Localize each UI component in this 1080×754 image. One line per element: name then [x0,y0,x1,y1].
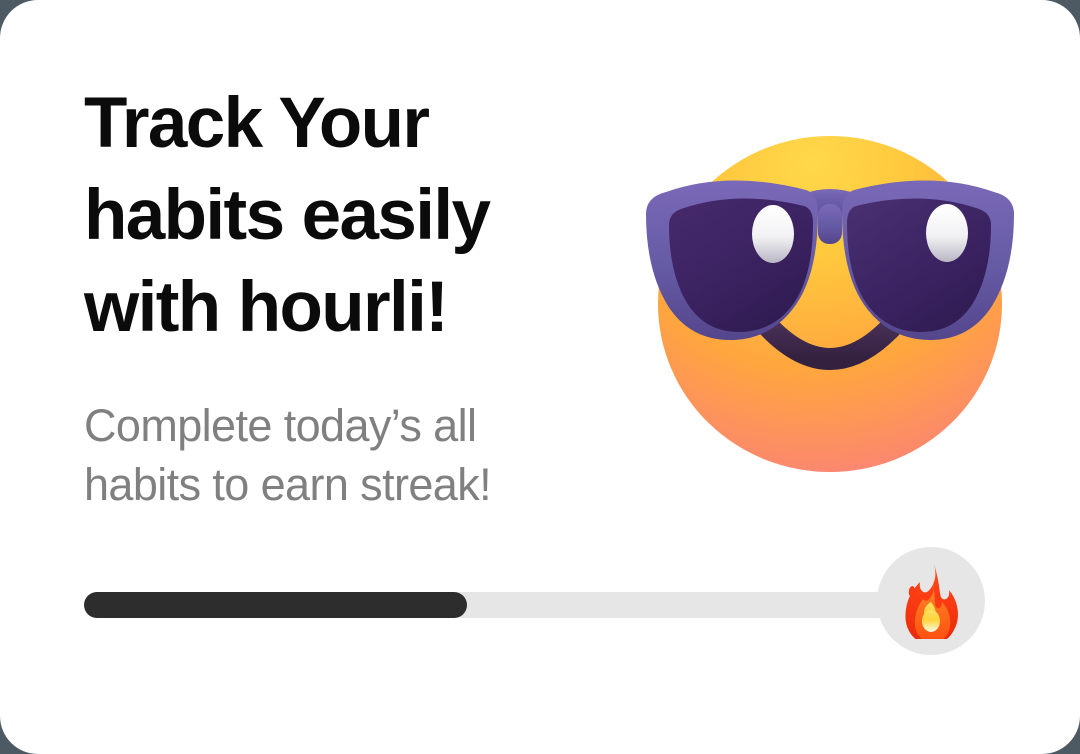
streak-progress[interactable] [84,543,986,655]
progress-fill [84,592,467,618]
page-title: Track Your habits easily with hourli! [84,78,644,354]
promo-card: Track Your habits easily with hourli! Co… [0,0,1080,754]
fire-icon [898,563,964,639]
subtitle-text: Complete today’s all habits to earn stre… [84,396,644,514]
smiling-face-with-sunglasses-icon [640,132,1020,480]
streak-badge[interactable] [877,547,985,655]
